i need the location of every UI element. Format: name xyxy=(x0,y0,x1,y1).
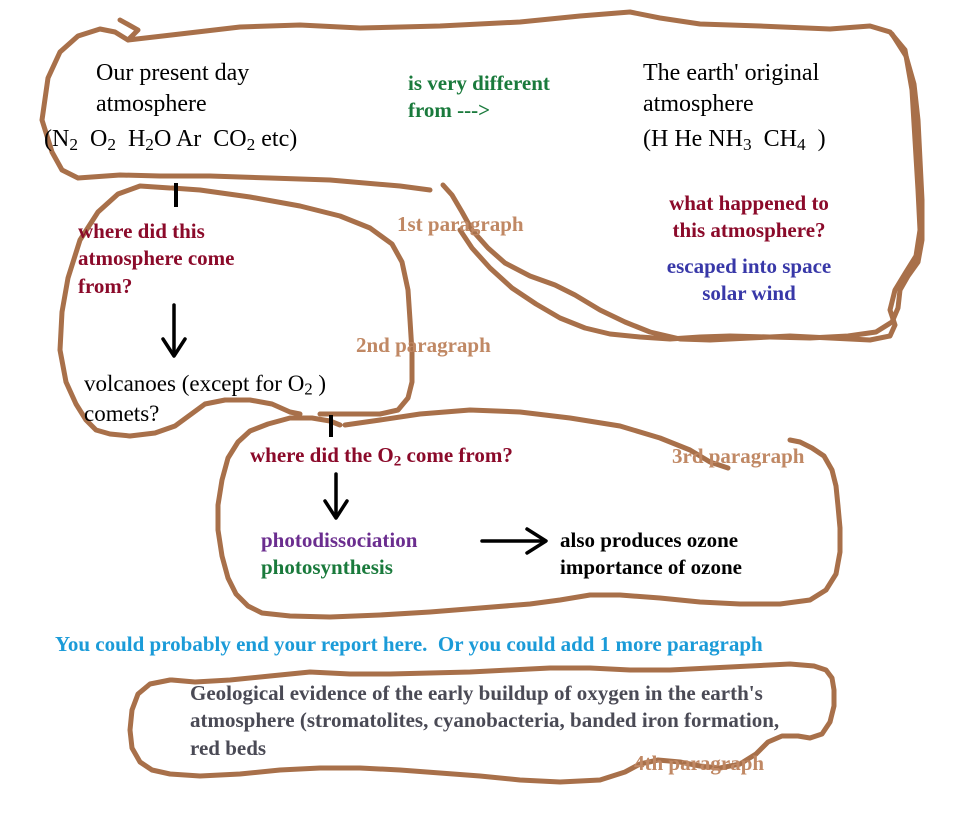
evidence-line2: atmosphere (stromatolites, cyanobacteria… xyxy=(190,708,779,732)
original-line2: atmosphere xyxy=(643,91,754,117)
evidence-line1: Geological evidence of the early buildup… xyxy=(190,681,763,705)
paragraph-label-3: 3rd paragraph xyxy=(672,443,804,470)
escaped-line2: solar wind xyxy=(702,281,796,305)
where-did-this-atmosphere-question: where did thisatmosphere comefrom? xyxy=(78,218,235,300)
escaped-into-space-answer: escaped into spacesolar wind xyxy=(633,253,865,308)
what-happened-line2: this atmosphere? xyxy=(672,218,825,242)
present-day-formula-text: (N2 O2 H2O Ar CO2 etc) xyxy=(44,124,297,155)
what-happened-line1: what happened to xyxy=(669,191,829,215)
arrow-right-photo-to-ozone xyxy=(482,529,546,553)
where-did-this-line2: atmosphere come xyxy=(78,246,235,270)
present-day-line2: atmosphere xyxy=(96,91,207,117)
where-did-this-line3: from? xyxy=(78,274,132,298)
photosynthesis-term: photosynthesis xyxy=(261,555,393,579)
present-day-line1: Our present day xyxy=(96,60,249,86)
what-happened-question: what happened tothis atmosphere? xyxy=(633,190,865,245)
arrow-down-where-to-volcanoes xyxy=(163,305,185,356)
arrow-down-o2-to-photo xyxy=(325,474,347,518)
original-atmosphere-text: The earth' originalatmosphere xyxy=(643,58,819,120)
paragraph-label-4: 4th paragraph xyxy=(634,750,764,777)
where-did-this-line1: where did this xyxy=(78,219,205,243)
volcanoes-answer-text: volcanoes (except for O2 )comets? xyxy=(84,369,326,429)
end-report-note: You could probably end your report here.… xyxy=(55,631,763,658)
diagram-canvas: Our present dayatmosphere (N2 O2 H2O Ar … xyxy=(0,0,969,817)
ozone-notes-text: also produces ozoneimportance of ozone xyxy=(560,527,742,582)
ozone-line1: also produces ozone xyxy=(560,528,738,552)
very-different-line2: from ---> xyxy=(408,98,490,122)
evidence-line3: red beds xyxy=(190,736,266,760)
photo-processes-text: photodissociationphotosynthesis xyxy=(261,527,417,582)
present-day-atmosphere-text: Our present dayatmosphere xyxy=(96,58,249,120)
very-different-line1: is very different xyxy=(408,71,550,95)
ozone-line2: importance of ozone xyxy=(560,555,742,579)
is-very-different-label: is very differentfrom ---> xyxy=(408,70,550,125)
original-line1: The earth' original xyxy=(643,60,819,86)
paragraph-label-1: 1st paragraph xyxy=(397,211,524,238)
geological-evidence-text: Geological evidence of the early buildup… xyxy=(190,680,890,762)
photodissociation-term: photodissociation xyxy=(261,528,417,552)
where-did-o2-come-from-question: where did the O2 come from? xyxy=(250,442,513,469)
escaped-line1: escaped into space xyxy=(667,254,832,278)
paragraph-label-2: 2nd paragraph xyxy=(356,332,491,359)
original-atmosphere-formula-text: (H He NH3 CH4 ) xyxy=(643,124,826,155)
